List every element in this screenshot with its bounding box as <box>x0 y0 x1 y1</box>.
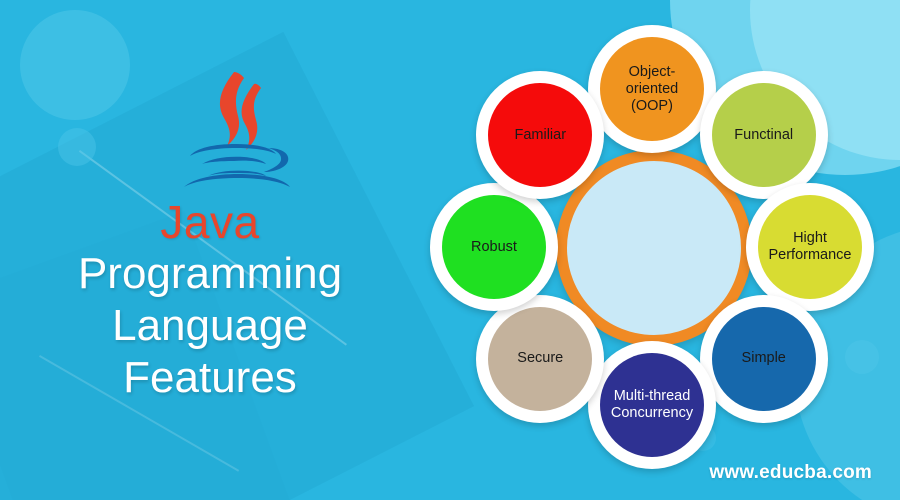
feature-node-functional[interactable]: Functinal <box>700 71 828 199</box>
feature-label: Familiar <box>510 127 570 144</box>
title-line-language: Language <box>0 300 420 352</box>
infographic-canvas: Java Programming Language Features Objec… <box>0 0 900 500</box>
feature-disc: Hight Performance <box>758 195 862 299</box>
feature-label: Hight Performance <box>758 230 862 264</box>
page-title: Java Programming Language Features <box>0 196 420 404</box>
feature-disc: Simple <box>712 307 816 411</box>
title-panel: Java Programming Language Features <box>0 0 430 500</box>
feature-disc: Functinal <box>712 83 816 187</box>
title-line-programming: Programming <box>0 248 420 300</box>
java-coffee-cup-logo <box>172 60 302 200</box>
feature-disc: Object-oriented (OOP) <box>600 37 704 141</box>
features-radial-diagram: Object-oriented (OOP) Functinal Hight Pe… <box>432 22 872 472</box>
feature-label: Multi-thread Concurrency <box>600 388 704 422</box>
feature-disc: Secure <box>488 307 592 411</box>
feature-label: Object-oriented (OOP) <box>600 64 704 115</box>
feature-label: Functinal <box>730 127 797 144</box>
feature-node-simple[interactable]: Simple <box>700 295 828 423</box>
feature-label: Simple <box>738 350 790 367</box>
feature-node-familiar[interactable]: Familiar <box>476 71 604 199</box>
feature-node-high-performance[interactable]: Hight Performance <box>746 183 874 311</box>
feature-disc: Multi-thread Concurrency <box>600 353 704 457</box>
feature-label: Robust <box>467 239 521 256</box>
feature-label: Secure <box>513 350 567 367</box>
feature-node-object-oriented[interactable]: Object-oriented (OOP) <box>588 25 716 153</box>
feature-node-robust[interactable]: Robust <box>430 183 558 311</box>
website-url: www.educba.com <box>709 462 872 484</box>
title-line-features: Features <box>0 352 420 404</box>
feature-disc: Familiar <box>488 83 592 187</box>
title-line-java: Java <box>0 196 420 248</box>
feature-node-secure[interactable]: Secure <box>476 295 604 423</box>
feature-disc: Robust <box>442 195 546 299</box>
feature-node-multi-thread-concurrency[interactable]: Multi-thread Concurrency <box>588 341 716 469</box>
